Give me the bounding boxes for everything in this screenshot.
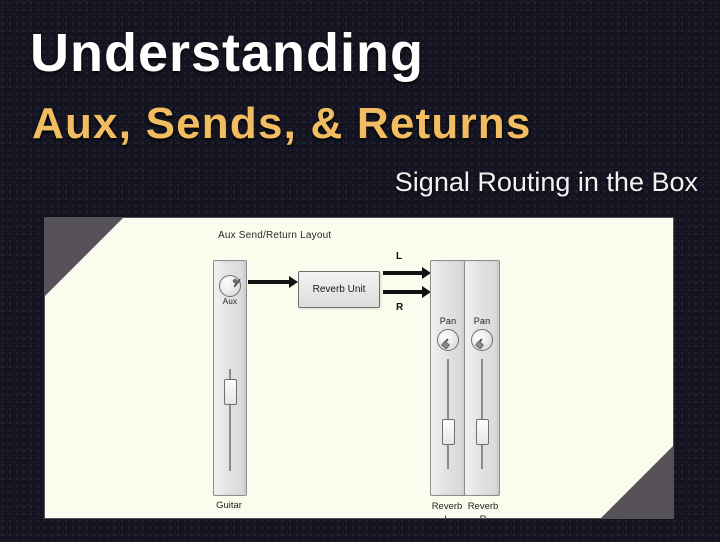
pan-knob-label-left: Pan (431, 316, 465, 326)
channel-label-reverb-left-name: Reverb (432, 501, 463, 512)
reverb-right-fader-track (481, 359, 483, 469)
channel-label-reverb-right-name: Reverb (468, 501, 499, 512)
aux-send-arrow-icon (248, 280, 290, 284)
pan-knob-left-icon[interactable] (437, 329, 459, 351)
page-title: Understanding (30, 24, 424, 82)
knob-cap (441, 340, 450, 349)
page-subtitle: Aux, Sends, & Returns (32, 100, 532, 148)
pan-knob-right-icon[interactable] (471, 329, 493, 351)
page-tagline: Signal Routing in the Box (395, 167, 698, 197)
aux-send-knob-icon[interactable] (219, 275, 241, 297)
reverb-left-fader-track (447, 359, 449, 469)
output-label-right: R (396, 302, 403, 313)
diagram-panel: Aux Send/Return Layout Aux Guitar Reverb… (45, 218, 673, 518)
reverb-unit-box[interactable]: Reverb Unit (298, 271, 380, 308)
aux-knob-label: Aux (214, 297, 246, 306)
reverb-return-left-arrow-icon (383, 271, 423, 275)
slide-canvas: Understanding Aux, Sends, & Returns Sign… (0, 0, 720, 542)
channel-label-reverb-left-sub: L (444, 514, 449, 518)
channel-label-reverb-right: Reverb R (461, 500, 505, 518)
channel-label-reverb-right-sub: R (480, 514, 487, 518)
reverb-unit-label: Reverb Unit (313, 284, 366, 295)
channel-label-guitar: Guitar (195, 500, 263, 511)
reverb-left-fader-handle[interactable] (442, 419, 455, 445)
output-label-left: L (396, 251, 402, 262)
reverb-right-fader-handle[interactable] (476, 419, 489, 445)
pan-knob-label-right: Pan (465, 316, 499, 326)
corner-triangle-bottom-right (601, 446, 673, 518)
diagram-title: Aux Send/Return Layout (218, 230, 331, 241)
guitar-fader-handle[interactable] (224, 379, 237, 405)
reverb-return-right-arrow-icon (383, 290, 423, 294)
corner-triangle-top-left (45, 218, 123, 296)
channel-strip-reverb-right: Pan (464, 260, 500, 496)
channel-strip-guitar: Aux (213, 260, 247, 496)
knob-cap (475, 340, 484, 349)
channel-strip-reverb-left: Pan (430, 260, 466, 496)
